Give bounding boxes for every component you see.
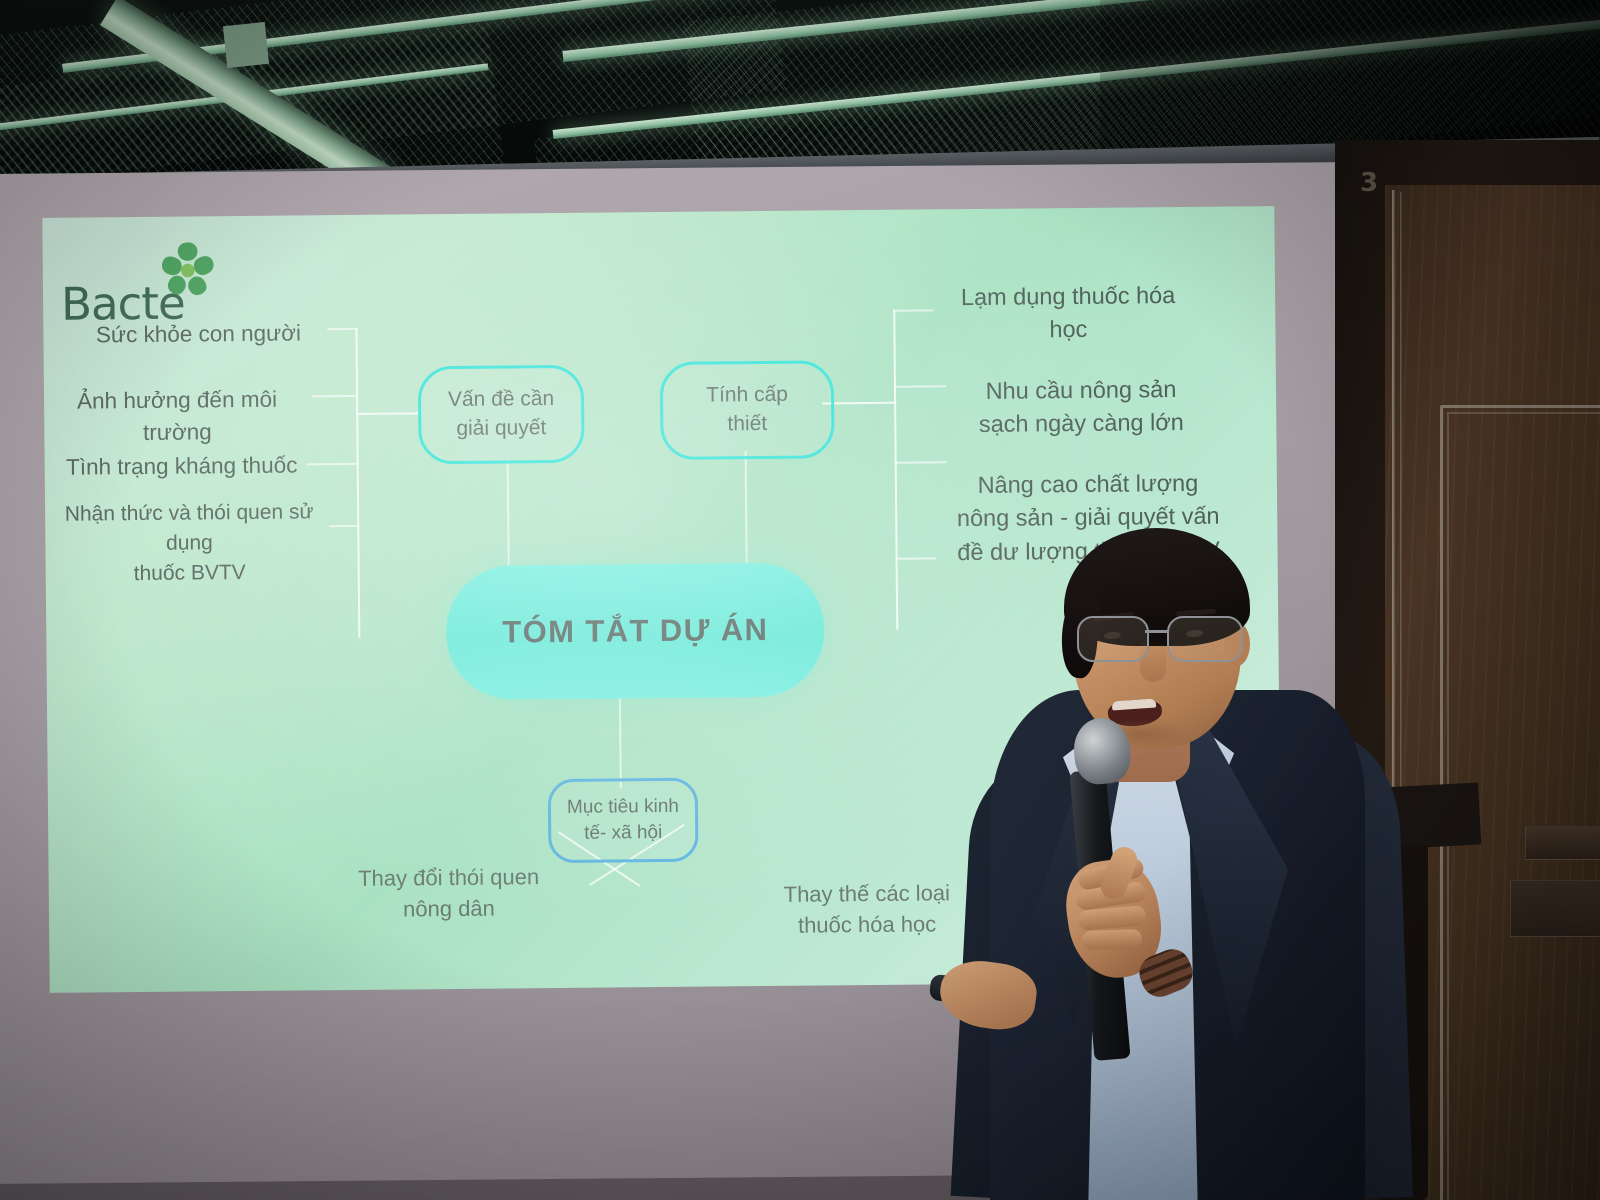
wall-outlet-plate [1510,880,1600,937]
left-item-1: Sức khỏe con người [63,317,333,352]
left-item-3: Tình trạng kháng thuốc [51,449,313,483]
right-item-2: Nhu cầu nông sản sạch ngày càng lớn [950,373,1213,442]
node-tom-tat-du-an[interactable]: TÓM TẮT DỰ ÁN [446,562,825,700]
connector-node1-to-center [507,459,510,571]
left-item-4: Nhận thức và thói quen sử dụng thuốc BVT… [42,497,340,589]
bottom-item-1: Thay đổi thói quen nông dân [319,861,580,926]
left-item-2: Ảnh hưởng đến môi trường [42,383,312,449]
connector-left-spine [355,328,360,638]
connector-center-to-goal [619,690,622,788]
lens-right [1167,616,1243,662]
connector-right-stub [894,385,946,387]
connector-left-to-node [356,412,418,415]
right-item-1: Lạm dụng thuốc hóa học [933,279,1204,348]
connector-node2-to-center [745,451,748,569]
glasses-bridge [1145,630,1169,633]
connector-right-stub [896,557,936,559]
wall-outlet-plate [1525,826,1600,860]
connector-left-stub [312,395,358,397]
finger [1082,929,1143,950]
connector-right-stub [893,309,933,311]
eyeglasses-icon [1075,616,1247,660]
lens-left [1077,616,1149,662]
connector-left-stub [307,463,359,465]
screenshot-root: Bacte [0,0,1600,1200]
connector-right-spine [893,310,898,630]
node-muc-tieu[interactable]: Mục tiêu kinh tế- xã hội [548,778,699,863]
flower-leaf-icon [157,238,220,301]
node-tinh-cap-thiet[interactable]: Tính cấp thiết [660,360,835,460]
bottom-item-2: Thay thế các loại thuốc hóa học [749,877,986,942]
ceiling-beam-mount [223,22,269,68]
node-van-de[interactable]: Vấn đề cần giải quyết [418,365,585,465]
door-number-label: 3 [1360,168,1378,198]
connector-right-stub [895,461,947,463]
